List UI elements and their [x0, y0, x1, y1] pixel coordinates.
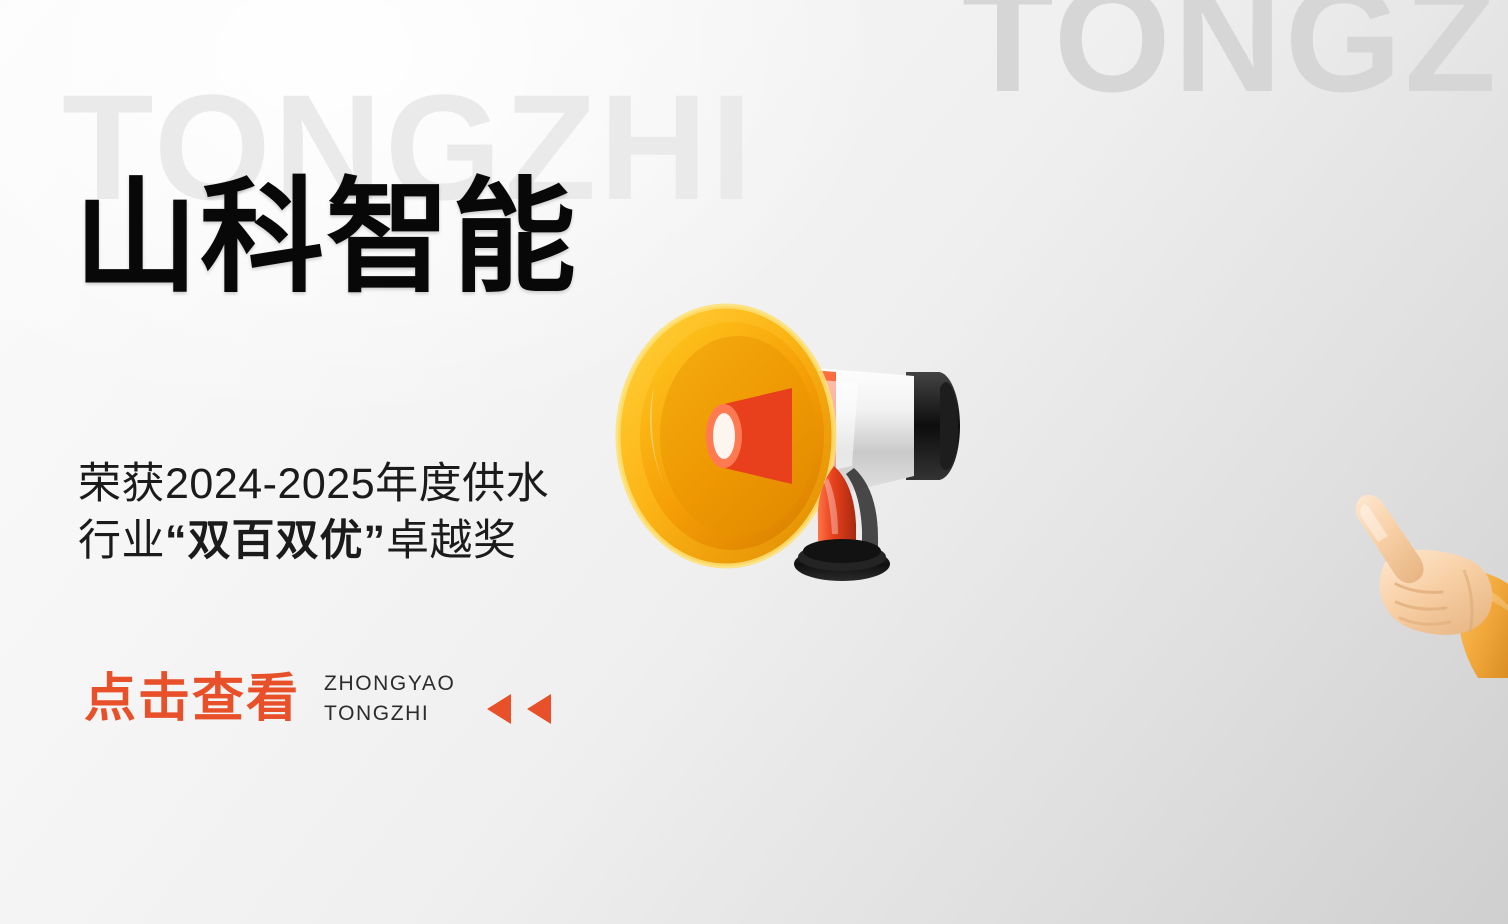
award-subtitle: 荣获2024-2025年度供水 行业“双百双优”卓越奖: [78, 456, 618, 570]
cta-pinyin-line2: TONGZHI: [324, 699, 455, 729]
triangle-left-icon: [527, 694, 551, 724]
award-subtitle-suffix: 卓越奖: [386, 517, 517, 565]
award-subtitle-quoted: “双百双优”: [165, 517, 386, 565]
promo-banner: TONGZHI TONGZHI 山科智能 荣获2024-2025年度供水 行业“…: [0, 0, 1508, 924]
cta-pinyin: ZHONGYAO TONGZHI: [324, 669, 455, 730]
triangle-left-icon: [487, 694, 511, 724]
pointing-hand-icon: [1338, 492, 1508, 678]
page-title: 山科智能: [74, 176, 578, 300]
cta-row[interactable]: 点击查看 ZHONGYAO TONGZHI: [84, 669, 551, 730]
award-subtitle-prefix: 行业: [78, 517, 165, 565]
award-subtitle-line1: 荣获2024-2025年度供水: [78, 456, 618, 513]
watermark-right: TONGZHI: [962, 0, 1508, 114]
megaphone-icon: [606, 276, 1010, 596]
cta-button-label[interactable]: 点击查看: [84, 673, 300, 725]
cta-pinyin-line1: ZHONGYAO: [324, 669, 455, 699]
cta-arrows: [487, 694, 551, 724]
award-subtitle-line2: 行业“双百双优”卓越奖: [78, 513, 618, 570]
